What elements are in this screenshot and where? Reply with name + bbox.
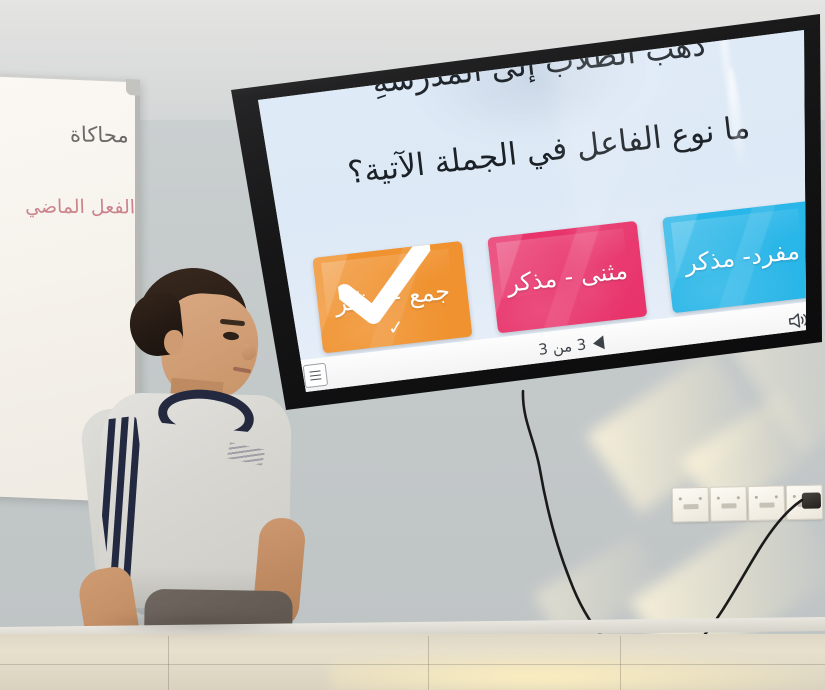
- nose: [242, 344, 256, 360]
- answer-label: مفرد- مذكر: [683, 237, 801, 278]
- power-socket: [672, 487, 710, 523]
- tile-grout: [168, 636, 169, 690]
- answer-label: مثنى - مذكر: [505, 256, 629, 298]
- page-indicator: 3 من 3: [537, 335, 587, 358]
- page-navigation[interactable]: 3 من 3: [537, 333, 605, 358]
- tile-grout: [620, 636, 621, 690]
- tile-grout: [428, 636, 429, 690]
- selected-check-icon: ✓: [387, 316, 405, 340]
- black-power-plug: [802, 492, 821, 508]
- answer-card[interactable]: مفرد- مذكر: [662, 201, 822, 313]
- ear: [164, 330, 183, 355]
- play-next-triangle-icon[interactable]: [592, 335, 605, 350]
- whiteboard-corner: [126, 79, 140, 96]
- whiteboard-text-red: الفعل الماضي: [25, 196, 136, 219]
- power-socket: [710, 486, 748, 522]
- wall-power-sockets: [672, 484, 825, 527]
- whiteboard-text-black: محاكاة: [70, 122, 129, 147]
- correct-check-icon: [334, 241, 438, 329]
- exit-fullscreen-icon[interactable]: [822, 306, 824, 326]
- classroom-photo-scene: محاكاة الفعل الماضي 2:05 3 ✓ ذَهَبَ الطّ…: [0, 0, 825, 690]
- person-floor-shadow: [92, 612, 302, 634]
- answer-card[interactable]: مثنى - مذكر: [487, 221, 647, 333]
- floor-sunlight: [330, 650, 825, 690]
- quiz-timer: 2:05: [267, 36, 305, 58]
- tile-grout: [0, 664, 825, 665]
- answer-card[interactable]: جمع - مذكر✓: [312, 241, 472, 353]
- power-socket: [748, 485, 786, 521]
